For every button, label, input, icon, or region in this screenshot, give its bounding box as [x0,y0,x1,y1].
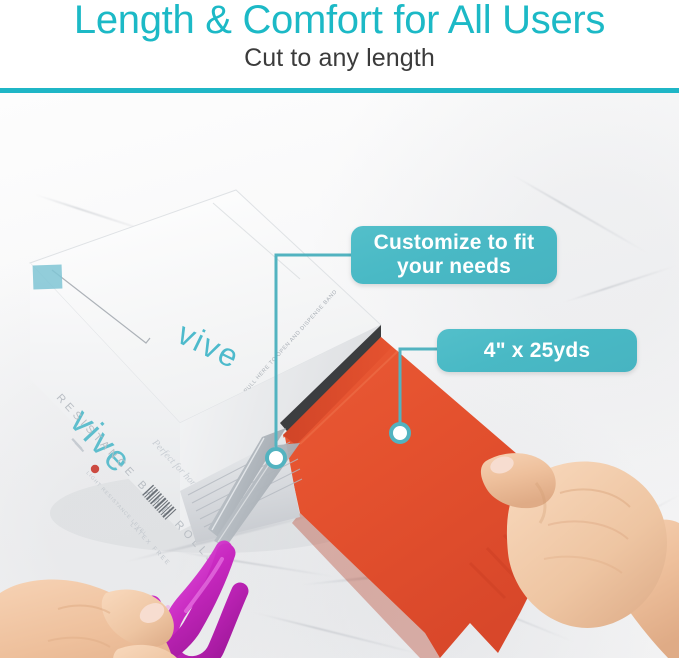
product-photo: vive PULL HERE TO OPEN AND DISPENSE BAND… [0,93,679,658]
product-infographic: Length & Comfort for All Users Cut to an… [0,0,679,658]
header-banner: Length & Comfort for All Users Cut to an… [0,0,679,89]
callout-size[interactable]: 4" x 25yds [437,329,637,372]
callout-size-text: 4" x 25yds [484,339,591,363]
hotspot-dot-size[interactable] [389,422,411,444]
scene-artwork: vive PULL HERE TO OPEN AND DISPENSE BAND… [0,93,679,658]
hotspot-dot-customize[interactable] [265,447,287,469]
callout-customize-text: Customize to fit your needs [374,231,535,278]
left-hand [0,579,186,658]
callout-customize[interactable]: Customize to fit your needs [351,226,557,284]
page-subtitle: Cut to any length [0,44,679,73]
callout-customize-line2: your needs [397,255,511,278]
callout-customize-line1: Customize to fit [374,231,535,254]
page-title: Length & Comfort for All Users [0,0,679,43]
